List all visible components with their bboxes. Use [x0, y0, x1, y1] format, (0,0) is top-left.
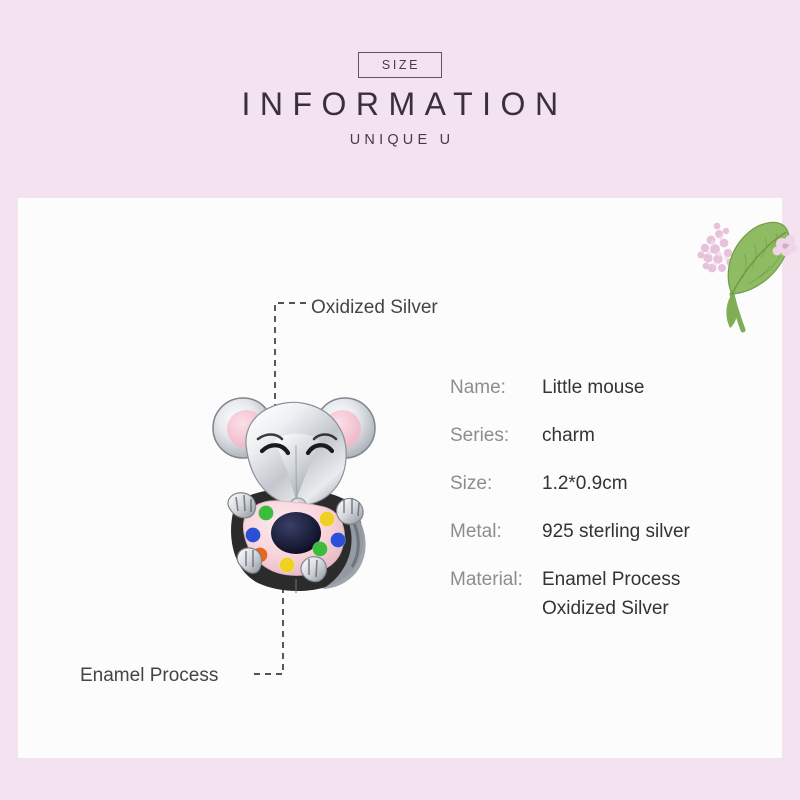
- spec-key: Name:: [450, 378, 506, 397]
- spec-value: 925 sterling silver: [542, 522, 690, 541]
- spec-value-line2: Oxidized Silver: [542, 599, 669, 618]
- spec-list: Name: Little mouse Series: charm Size: 1…: [450, 378, 770, 618]
- size-badge-label: SIZE: [380, 59, 420, 72]
- page-title: INFORMATION: [0, 88, 800, 120]
- spec-value: 1.2*0.9cm: [542, 474, 628, 493]
- spec-key: Material:: [450, 570, 523, 589]
- page-header: SIZE INFORMATION UNIQUE U: [0, 0, 800, 198]
- spec-row-size: Size: 1.2*0.9cm: [450, 474, 770, 522]
- spec-value: Enamel Process: [542, 570, 680, 589]
- spec-value: Little mouse: [542, 378, 644, 397]
- spec-value: charm: [542, 426, 595, 445]
- spec-key: Size:: [450, 474, 492, 493]
- leaf-and-lilac-flowers-icon: [686, 198, 800, 338]
- product-image-little-mouse-charm: [196, 383, 392, 613]
- spec-row-name: Name: Little mouse: [450, 378, 770, 426]
- spec-row-material: Material: Enamel Process Oxidized Silver: [450, 570, 770, 618]
- size-information-page: SIZE INFORMATION UNIQUE U: [0, 0, 800, 800]
- spec-row-metal: Metal: 925 sterling silver: [450, 522, 770, 570]
- size-badge: SIZE: [358, 52, 442, 78]
- annotation-label-oxidized-silver: Oxidized Silver: [311, 298, 438, 317]
- page-subtitle: UNIQUE U: [0, 133, 800, 148]
- spec-key: Series:: [450, 426, 509, 445]
- content-card: Oxidized Silver Enamel Process: [18, 198, 782, 758]
- annotation-label-enamel-process: Enamel Process: [80, 666, 218, 685]
- spec-row-series: Series: charm: [450, 426, 770, 474]
- spec-key: Metal:: [450, 522, 502, 541]
